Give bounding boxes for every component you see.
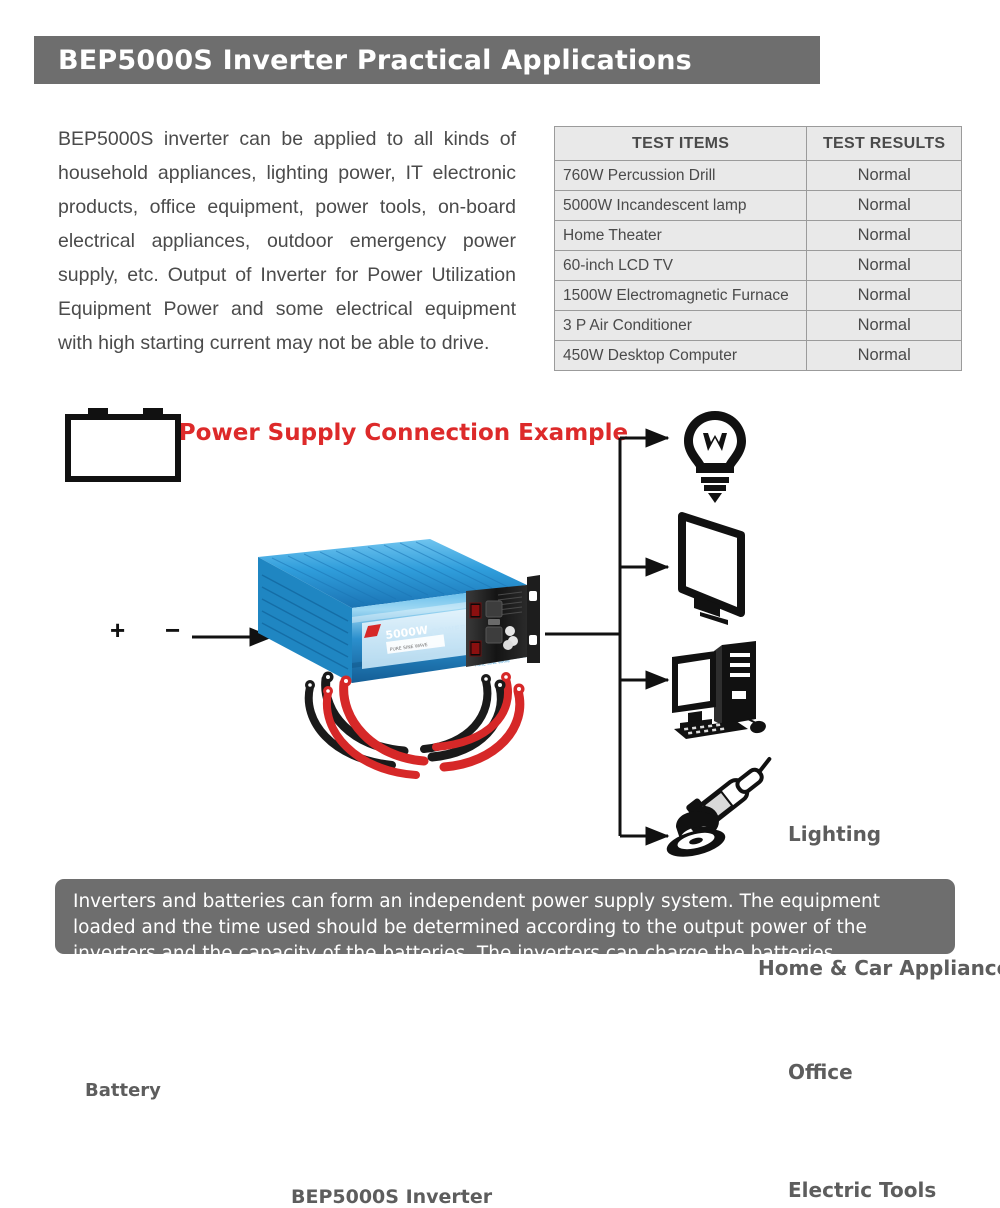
cell-test-result: Normal — [807, 221, 962, 251]
cell-test-item: 1500W Electromagnetic Furnace — [555, 281, 807, 311]
cell-test-result: Normal — [807, 251, 962, 281]
battery-positive-terminal: + — [110, 615, 125, 646]
table-body: 760W Percussion Drill Normal 5000W Incan… — [555, 161, 962, 371]
cell-test-item: 3 P Air Conditioner — [555, 311, 807, 341]
cell-test-result: Normal — [807, 281, 962, 311]
header-bar: BEP5000S Inverter Practical Applications — [34, 36, 820, 84]
test-results-table-wrapper: TEST ITEMS TEST RESULTS 760W Percussion … — [554, 126, 962, 371]
branch-label-lighting: Lighting — [788, 822, 881, 846]
table-row: Home Theater Normal — [555, 221, 962, 251]
cell-test-result: Normal — [807, 341, 962, 371]
table-row: 60-inch LCD TV Normal — [555, 251, 962, 281]
cell-test-result: Normal — [807, 161, 962, 191]
bottom-callout: Inverters and batteries can form an inde… — [55, 879, 955, 954]
battery-label: Battery — [85, 1080, 161, 1101]
cell-test-item: Home Theater — [555, 221, 807, 251]
inverter-caption: BEP5000S Inverter — [291, 1186, 492, 1208]
cell-test-item: 5000W Incandescent lamp — [555, 191, 807, 221]
branch-label-electric-tools: Electric Tools — [788, 1178, 936, 1202]
test-results-table: TEST ITEMS TEST RESULTS 760W Percussion … — [554, 126, 962, 371]
cell-test-result: Normal — [807, 311, 962, 341]
monitor-icon — [682, 516, 741, 625]
table-row: 450W Desktop Computer Normal — [555, 341, 962, 371]
intro-paragraph: BEP5000S inverter can be applied to all … — [58, 122, 516, 360]
branch-wiring — [545, 438, 668, 836]
infographic-page: BEP5000S Inverter Practical Applications… — [0, 0, 1000, 1000]
battery-icon — [68, 408, 178, 479]
battery-negative-terminal: − — [165, 615, 180, 646]
table-header-row: TEST ITEMS TEST RESULTS — [555, 127, 962, 161]
page-title: BEP5000S Inverter Practical Applications — [34, 45, 692, 76]
cell-test-item: 60-inch LCD TV — [555, 251, 807, 281]
cell-test-result: Normal — [807, 191, 962, 221]
callout-text: Inverters and batteries can form an inde… — [73, 889, 937, 967]
connection-diagram: 5000W POWER INVERTER PURE SINE WAVE PURE… — [0, 395, 1000, 865]
cell-test-item: 760W Percussion Drill — [555, 161, 807, 191]
table-row: 5000W Incandescent lamp Normal — [555, 191, 962, 221]
cell-test-item: 450W Desktop Computer — [555, 341, 807, 371]
inverter-product-image: 5000W POWER INVERTER PURE SINE WAVE PURE… — [258, 539, 540, 775]
table-row: 1500W Electromagnetic Furnace Normal — [555, 281, 962, 311]
lightbulb-icon — [684, 411, 746, 503]
branch-label-office: Office — [788, 1060, 853, 1084]
angle-grinder-icon — [664, 748, 779, 862]
table-row: 3 P Air Conditioner Normal — [555, 311, 962, 341]
column-header-test-results: TEST RESULTS — [807, 127, 962, 161]
column-header-test-items: TEST ITEMS — [555, 127, 807, 161]
table-row: 760W Percussion Drill Normal — [555, 161, 962, 191]
desktop-computer-icon — [672, 641, 767, 739]
